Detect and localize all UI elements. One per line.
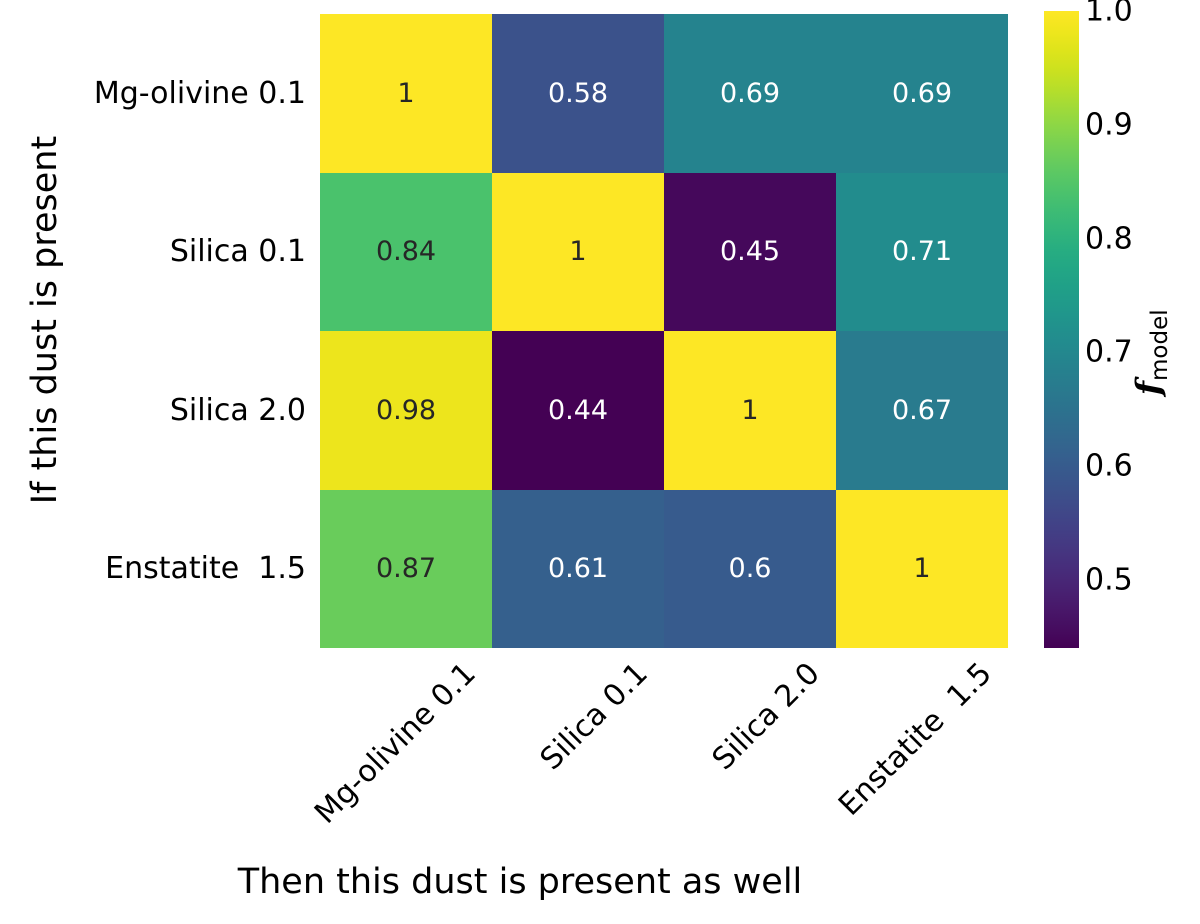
heatmap-cell: 0.84 xyxy=(320,173,492,332)
heatmap-cell: 0.87 xyxy=(320,490,492,649)
heatmap-cell: 1 xyxy=(320,14,492,173)
y-tick-label: Enstatite 1.5 xyxy=(0,490,312,649)
heatmap-cell-value: 1 xyxy=(569,238,586,265)
x-tick-label: Enstatite 1.5 xyxy=(832,656,999,823)
heatmap-cell: 0.71 xyxy=(836,173,1008,332)
heatmap-cell: 0.58 xyxy=(492,14,664,173)
x-tick-label: Silica 0.1 xyxy=(534,656,655,777)
heatmap-cell-value: 0.87 xyxy=(376,555,436,582)
x-axis-tick-labels: Mg-olivine 0.1Silica 0.1Silica 2.0Enstat… xyxy=(320,648,1008,848)
heatmap-cell: 0.6 xyxy=(664,490,836,649)
x-tick-label: Silica 2.0 xyxy=(706,656,827,777)
heatmap-cell-value: 0.69 xyxy=(720,80,780,107)
colorbar-tick-label: 0.9 xyxy=(1085,107,1133,142)
heatmap-cell-value: 0.98 xyxy=(376,397,436,424)
colorbar-tick-label: 1.0 xyxy=(1085,0,1133,29)
heatmap-cell-value: 1 xyxy=(397,80,414,107)
heatmap-cell: 0.44 xyxy=(492,331,664,490)
colorbar-tick-label: 0.7 xyxy=(1085,335,1133,370)
heatmap-cell: 0.98 xyxy=(320,331,492,490)
colorbar-title-subscript: model xyxy=(1147,309,1173,381)
heatmap-cell-value: 0.71 xyxy=(892,238,952,265)
colorbar-tick-label: 0.5 xyxy=(1085,562,1133,597)
y-tick-label: Mg-olivine 0.1 xyxy=(0,14,312,173)
heatmap-cell-value: 0.58 xyxy=(548,80,608,107)
heatmap-cell-value: 0.67 xyxy=(892,397,952,424)
heatmap-cell-value: 1 xyxy=(741,397,758,424)
heatmap-cell: 0.69 xyxy=(836,14,1008,173)
y-tick-label: Silica 0.1 xyxy=(0,173,312,332)
heatmap-cell: 0.45 xyxy=(664,173,836,332)
colorbar-title: fmodel xyxy=(1129,309,1174,395)
heatmap-cell: 1 xyxy=(836,490,1008,649)
heatmap-cell-value: 0.84 xyxy=(376,238,436,265)
y-axis-tick-labels: Mg-olivine 0.1 Silica 0.1 Silica 2.0 Ens… xyxy=(0,14,312,648)
heatmap-cell-value: 0.69 xyxy=(892,80,952,107)
heatmap-cell: 0.69 xyxy=(664,14,836,173)
heatmap-cell-value: 0.45 xyxy=(720,238,780,265)
colorbar-gradient xyxy=(1044,11,1079,648)
heatmap-cell: 1 xyxy=(492,173,664,332)
colorbar-tick-label: 0.8 xyxy=(1085,221,1133,256)
heatmap-cell-value: 0.6 xyxy=(729,555,772,582)
heatmap-cell-value: 0.61 xyxy=(548,555,608,582)
heatmap-cell: 0.67 xyxy=(836,331,1008,490)
y-tick-label: Silica 2.0 xyxy=(0,331,312,490)
x-tick-label: Mg-olivine 0.1 xyxy=(308,656,483,831)
colorbar-title-symbol: f xyxy=(1129,381,1168,395)
heatmap-cell: 1 xyxy=(664,331,836,490)
heatmap-cell: 0.61 xyxy=(492,490,664,649)
x-axis-title: Then this dust is present as well xyxy=(0,862,1040,902)
colorbar-tick-label: 0.6 xyxy=(1085,449,1133,484)
heatmap-grid: 10.580.690.690.8410.450.710.980.4410.670… xyxy=(320,14,1008,648)
colorbar xyxy=(1044,11,1079,648)
heatmap-cell-value: 1 xyxy=(913,555,930,582)
heatmap-cell-value: 0.44 xyxy=(548,397,608,424)
